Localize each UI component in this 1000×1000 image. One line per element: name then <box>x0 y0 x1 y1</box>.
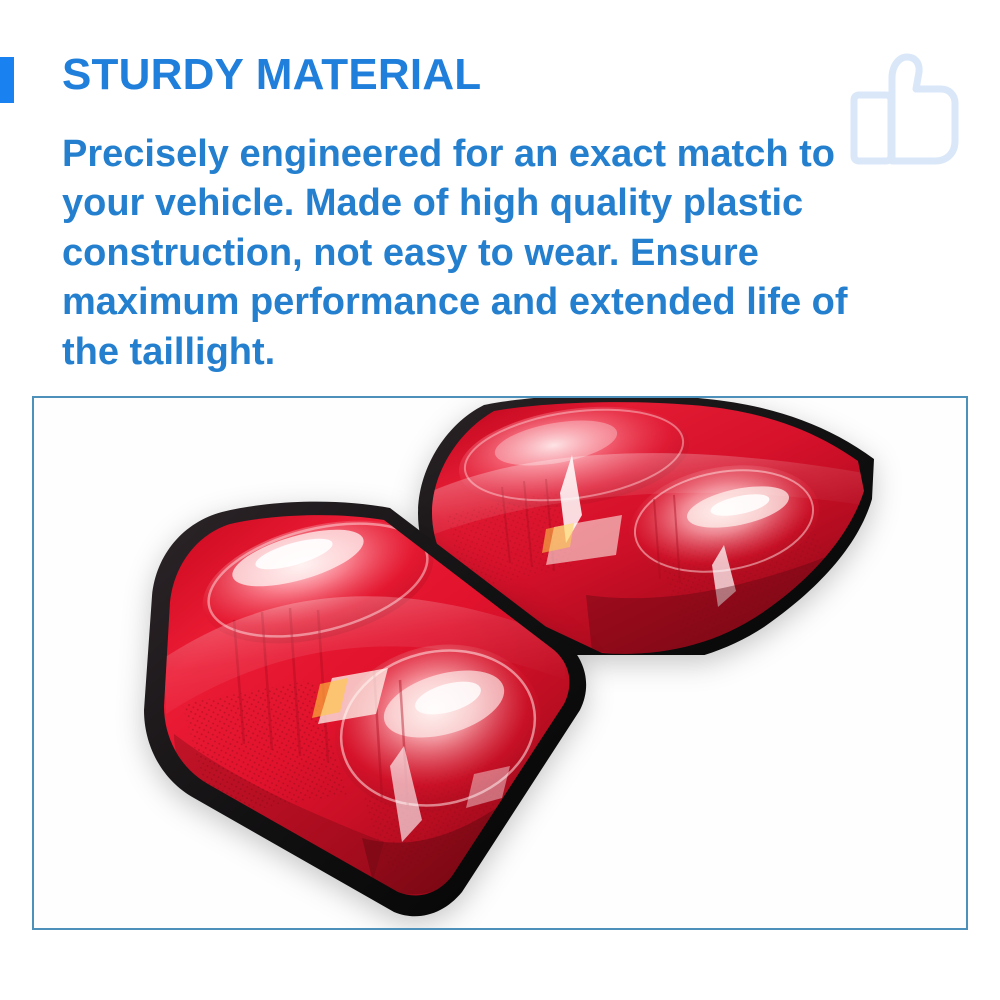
description-text: Precisely engineered for an exact match … <box>62 130 962 377</box>
taillight-front <box>122 498 642 918</box>
title-accent-bar <box>0 57 14 103</box>
product-photo <box>34 398 966 928</box>
product-image-frame <box>32 396 968 930</box>
page-title: STURDY MATERIAL <box>62 52 481 98</box>
